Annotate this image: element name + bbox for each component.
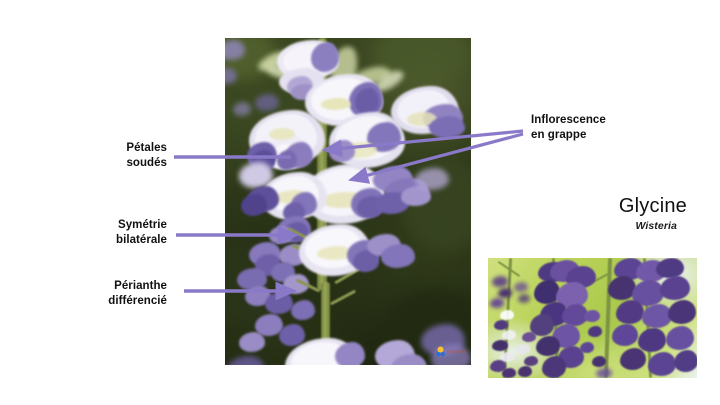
plant-scientific-name: Wisteria <box>520 219 687 233</box>
main-photo: vearbos <box>225 38 471 365</box>
plant-common-name: Glycine <box>520 195 687 218</box>
annotation-label-petales-soudes: Pétales soudés <box>67 141 167 171</box>
slide-canvas: vearbos <box>0 0 720 405</box>
annotation-label-symetrie-bilaterale: Symétrie bilatérale <box>57 218 167 248</box>
flower-logo-icon <box>436 346 445 357</box>
annotation-label-perianthe-differencie: Périanthe différencié <box>57 279 167 309</box>
annotation-label-inflorescence-en-grappe: Inflorescence en grappe <box>531 113 681 143</box>
watermark-text: vearbos <box>447 349 466 355</box>
title-block: Glycine Wisteria <box>520 195 687 233</box>
watermark: vearbos <box>436 345 471 358</box>
inset-photo <box>488 258 697 378</box>
